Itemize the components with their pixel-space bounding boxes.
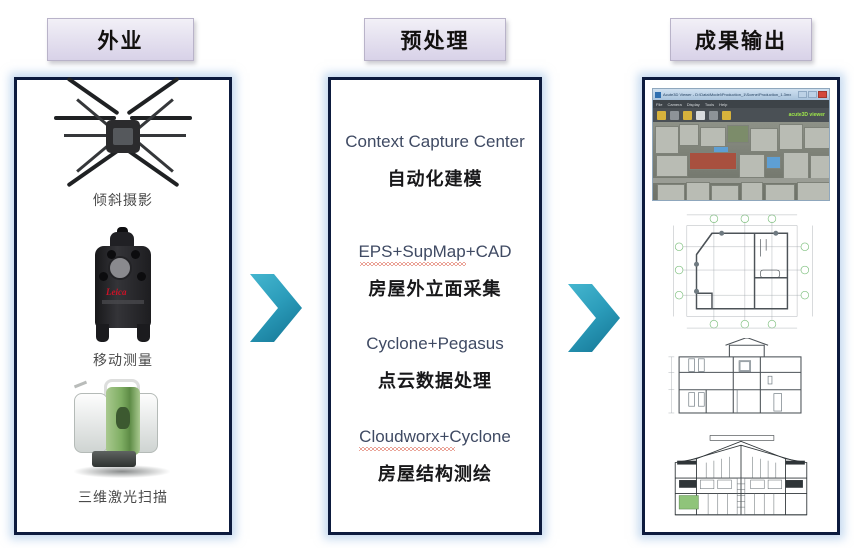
viewer-title-text: Acute3D Viewer - D:\Data\Model\Productio… bbox=[663, 92, 798, 97]
process-step-tool: Cyclone+Pegasus bbox=[366, 332, 504, 355]
measure-icon[interactable] bbox=[683, 111, 692, 120]
output-building-elevation bbox=[652, 432, 830, 530]
process-step-facade-capture: EPS+SupMap+CAD 房屋外立面采集 bbox=[331, 240, 539, 301]
process-step-point-cloud: Cyclone+Pegasus 点云数据处理 bbox=[331, 332, 539, 393]
process-step-task: 自动化建模 bbox=[331, 165, 539, 191]
drone-icon bbox=[17, 88, 229, 184]
layers-icon[interactable] bbox=[709, 111, 718, 120]
stage-header-label: 外业 bbox=[98, 25, 144, 55]
source-item-laser-scanning: 三维激光扫描 bbox=[17, 385, 229, 507]
stage-header-label: 预处理 bbox=[401, 25, 470, 55]
laser-scanner-icon bbox=[17, 385, 229, 481]
process-step-tool: Cloudworx+Cyclone bbox=[359, 425, 511, 448]
viewer-menu-bar[interactable]: File Camera Display Tools Help bbox=[653, 100, 829, 108]
viewer-title-bar: Acute3D Viewer - D:\Data\Model\Productio… bbox=[653, 89, 829, 100]
panel-output: Acute3D Viewer - D:\Data\Model\Productio… bbox=[642, 77, 840, 535]
menu-display[interactable]: Display bbox=[687, 102, 700, 107]
arrow-stage-2-to-3 bbox=[566, 282, 622, 354]
output-building-section bbox=[652, 338, 830, 428]
panel-field-work: 倾斜摄影 Leica 移动测量 bbox=[14, 77, 232, 535]
output-3d-model-viewer: Acute3D Viewer - D:\Data\Model\Productio… bbox=[652, 88, 830, 201]
output-floor-plan bbox=[652, 208, 830, 334]
stage-header-label: 成果输出 bbox=[695, 25, 787, 55]
process-step-task: 点云数据处理 bbox=[331, 367, 539, 393]
process-step-tool: EPS+SupMap+CAD bbox=[358, 240, 511, 263]
viewer-window-controls[interactable] bbox=[798, 91, 827, 98]
refresh-icon[interactable] bbox=[670, 111, 679, 120]
process-step-tool: Context Capture Center bbox=[345, 130, 525, 153]
menu-camera[interactable]: Camera bbox=[667, 102, 681, 107]
viewer-toolbar[interactable]: acute3D viewer bbox=[653, 108, 829, 122]
maximize-icon[interactable] bbox=[808, 91, 817, 98]
source-item-caption: 倾斜摄影 bbox=[93, 190, 153, 210]
process-step-task: 房屋结构测绘 bbox=[331, 460, 539, 486]
panel-preprocessing: Context Capture Center 自动化建模 EPS+SupMap+… bbox=[328, 77, 542, 535]
viewer-brand-label: acute3D viewer bbox=[789, 112, 825, 118]
source-item-mobile-mapping: Leica 移动测量 bbox=[17, 232, 229, 370]
process-step-structure-survey: Cloudworx+Cyclone 房屋结构测绘 bbox=[331, 425, 539, 486]
settings-icon[interactable] bbox=[696, 111, 705, 120]
source-item-caption: 三维激光扫描 bbox=[78, 487, 168, 507]
backpack-scanner-icon: Leica bbox=[17, 232, 229, 344]
menu-help[interactable]: Help bbox=[719, 102, 727, 107]
stage-header-preprocessing: 预处理 bbox=[364, 18, 506, 61]
arrow-stage-1-to-2 bbox=[248, 272, 304, 344]
source-item-caption: 移动测量 bbox=[93, 350, 153, 370]
viewer-3d-canvas[interactable] bbox=[653, 122, 829, 200]
minimize-icon[interactable] bbox=[798, 91, 807, 98]
source-item-oblique-photography: 倾斜摄影 bbox=[17, 88, 229, 210]
export-icon[interactable] bbox=[722, 111, 731, 120]
stage-header-field-work: 外业 bbox=[47, 18, 194, 61]
process-step-task: 房屋外立面采集 bbox=[331, 275, 539, 301]
stage-header-output: 成果输出 bbox=[670, 18, 812, 61]
viewer-app-icon bbox=[655, 92, 661, 98]
menu-tools[interactable]: Tools bbox=[705, 102, 714, 107]
open-folder-icon[interactable] bbox=[657, 111, 666, 120]
process-step-automated-modeling: Context Capture Center 自动化建模 bbox=[331, 130, 539, 191]
menu-file[interactable]: File bbox=[656, 102, 662, 107]
close-icon[interactable] bbox=[818, 91, 827, 98]
